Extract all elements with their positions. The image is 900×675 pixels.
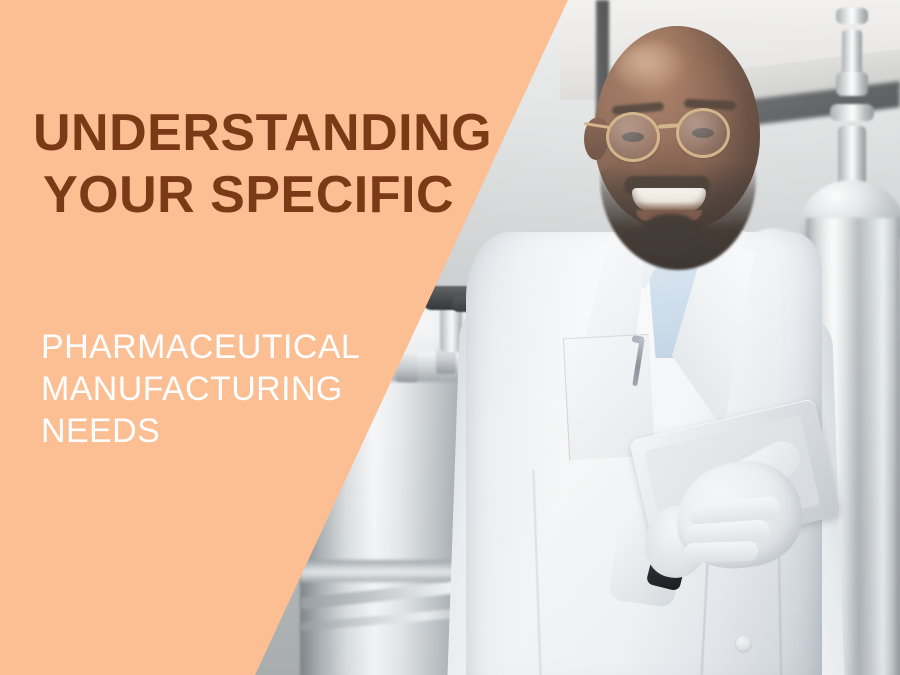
headline-line-2: YOUR SPECIFIC: [43, 164, 454, 226]
subheadline-line-3: NEEDS: [41, 410, 160, 452]
head-highlight: [616, 42, 688, 94]
subheadline-line-1: PHARMACEUTICAL: [41, 326, 360, 368]
slide-canvas: UNDERSTANDING YOUR SPECIFIC PHARMACEUTIC…: [0, 0, 900, 675]
glove-finger: [684, 541, 759, 564]
eyeglasses-lens-left: [606, 112, 660, 162]
smile-teeth: [632, 188, 706, 212]
subheadline-line-2: MANUFACTURING: [41, 368, 343, 410]
coat-button: [736, 636, 751, 651]
chin-beard: [640, 214, 702, 260]
eyeglasses-lens-right: [676, 108, 730, 158]
headline-line-1: UNDERSTANDING: [33, 102, 492, 164]
